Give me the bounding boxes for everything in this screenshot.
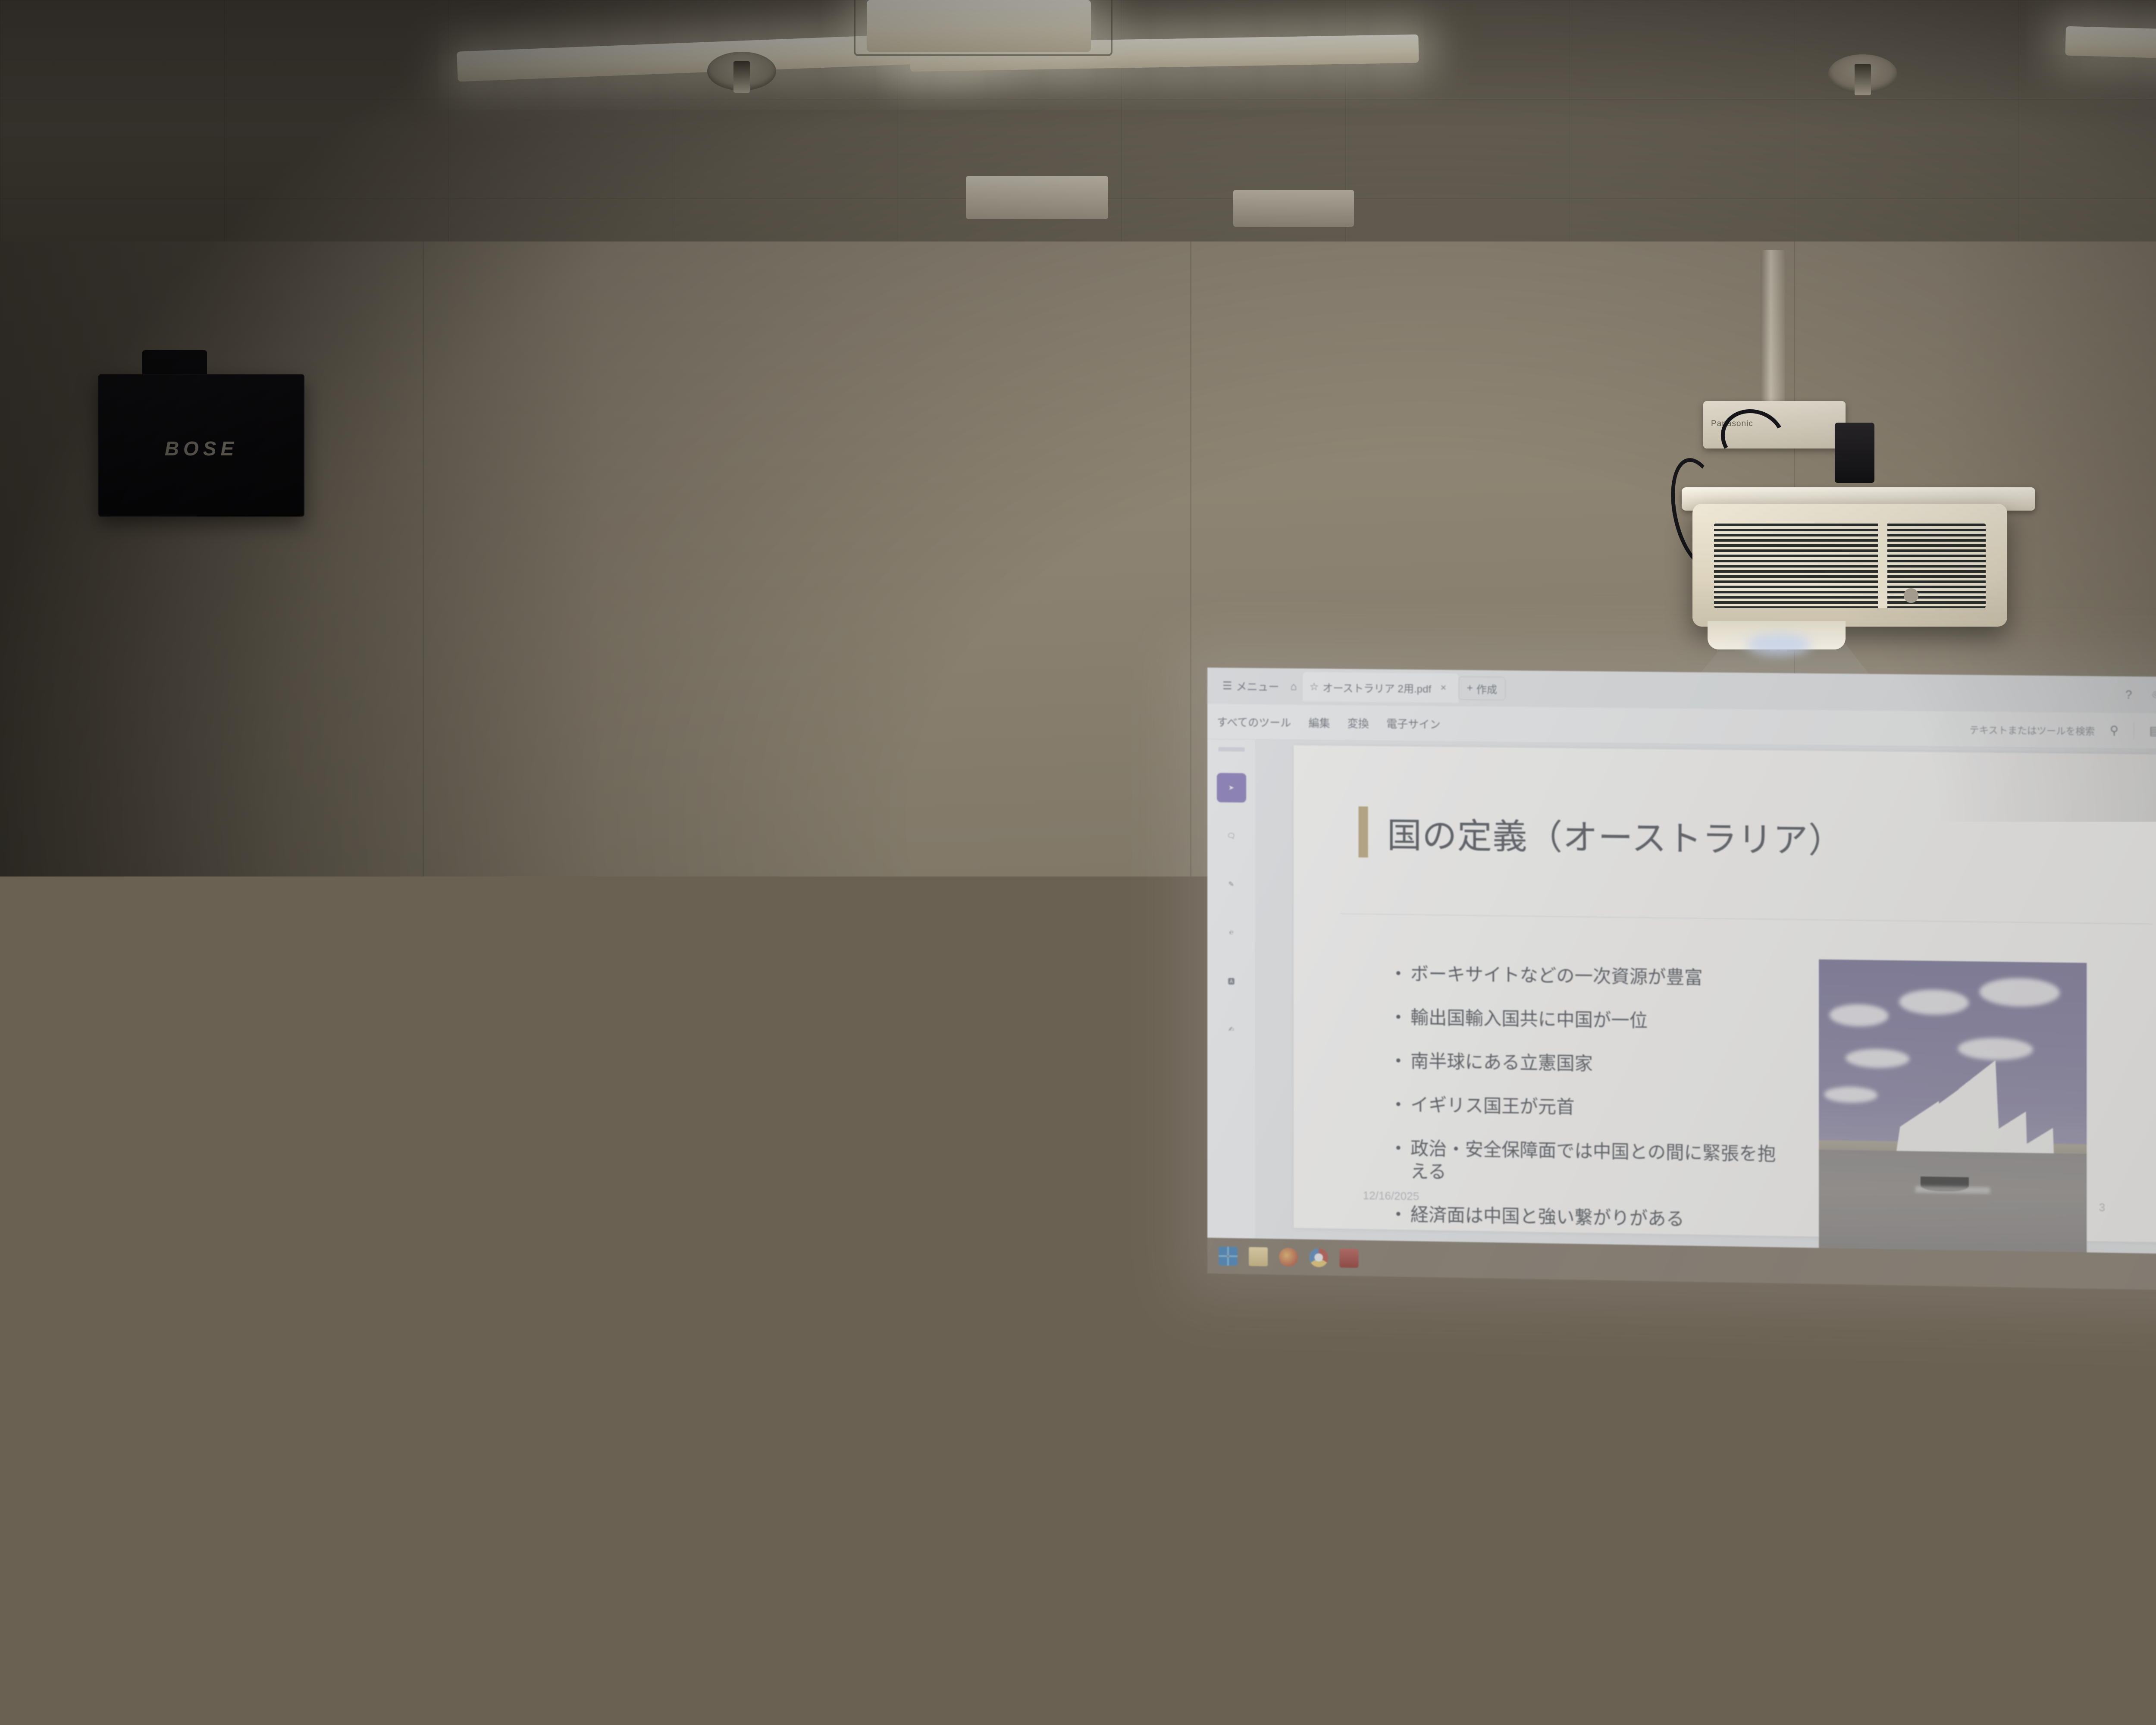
list-item: • 南半球にある立憲国家 — [1396, 1050, 1779, 1078]
text-box-tool-button[interactable]: 🅰 — [1216, 966, 1246, 996]
menu-item-all-tools[interactable]: すべてのツール — [1217, 714, 1300, 730]
sweatshirt-collar — [815, 1152, 906, 1176]
signature-tool-button[interactable]: ✍ — [1216, 1014, 1246, 1044]
title-accent-bar — [1359, 806, 1368, 857]
audience-member — [267, 1384, 414, 1660]
bose-logo: BOSE — [99, 437, 304, 460]
draw-lasso-tool-button[interactable]: ℮ — [1216, 918, 1246, 947]
bullet-text: 南半球にある立憲国家 — [1410, 1050, 1593, 1076]
ceiling-sensor-icon — [707, 52, 776, 91]
tab-close-icon[interactable]: × — [1435, 682, 1451, 694]
tablet-arm-desk — [914, 1647, 1078, 1672]
menu-item-convert[interactable]: 変換 — [1339, 715, 1378, 731]
audience-member-body — [1992, 1578, 2156, 1725]
comment-bubble-icon: 🗨 — [1227, 832, 1235, 841]
file-explorer-icon[interactable] — [1249, 1247, 1268, 1266]
bullet-text: 経済面は中国と強い繋がりがある — [1410, 1204, 1684, 1231]
microphone-head — [675, 1191, 697, 1214]
light-panel-frame — [854, 0, 1112, 56]
left-tool-rail: ➤ 🗨 ✎ ℮ 🅰 ✍ — [1207, 739, 1256, 1239]
projector-power-brick — [1835, 423, 1874, 483]
bell-icon[interactable]: ⌾ — [2148, 688, 2156, 702]
bullet-text: イギリス国王が元首 — [1410, 1094, 1575, 1119]
audience-member — [828, 1423, 962, 1665]
rail-handle — [1218, 747, 1244, 752]
ear — [895, 1078, 913, 1108]
pen-icon: ✎ — [1228, 880, 1234, 889]
lasso-icon: ℮ — [1229, 929, 1234, 937]
desk-leg — [966, 1671, 977, 1725]
list-item: • イギリス国王が元首 — [1396, 1093, 1779, 1122]
search-icon[interactable]: ⚲ — [2106, 724, 2123, 737]
help-circle-icon[interactable]: ? — [2121, 688, 2137, 702]
list-item: • 輸出国輸入国共に中国が一位 — [1396, 1006, 1779, 1035]
sweatshirt-text: BOSTON COLLEGE EST.1928 — [783, 1233, 943, 1345]
text-box-icon: 🅰 — [1228, 976, 1235, 986]
tablet-arm-desk — [1552, 1695, 1690, 1716]
desk-paper — [86, 1264, 172, 1275]
tab-title: オーストラリア 2用.pdf — [1322, 679, 1431, 696]
tablet-device — [6, 1214, 62, 1277]
save-icon[interactable]: ▤ — [2145, 724, 2156, 738]
menu-divider — [2134, 722, 2134, 739]
bullet-dot-icon: • — [1396, 1137, 1401, 1182]
hamburger-icon: ☰ — [1222, 679, 1232, 692]
create-label: 作成 — [1476, 681, 1497, 696]
bullet-text: ボーキサイトなどの一次資源が豊富 — [1410, 963, 1703, 989]
ceiling-sensor-icon — [1828, 54, 1897, 93]
sweatshirt-line1: BOSTON COLLEGE EST.1928 — [783, 1236, 943, 1342]
desk-leg — [285, 1659, 297, 1725]
select-tool-button[interactable]: ➤ — [1216, 773, 1246, 803]
bose-wall-speaker: BOSE — [98, 374, 304, 517]
hair-top — [320, 1095, 428, 1173]
create-button[interactable]: + 作成 — [1459, 677, 1506, 700]
comment-tool-button[interactable]: 🗨 — [1216, 821, 1246, 851]
list-item: • ボーキサイトなどの一次資源が豊富 — [1396, 963, 1779, 991]
boat-wake — [1915, 1186, 1990, 1194]
home-button[interactable]: ⌂ — [1285, 674, 1303, 699]
audience-member-body — [0, 1492, 181, 1725]
bullet-dot-icon: • — [1396, 1204, 1401, 1226]
bullet-text: 政治・安全保障面では中国との間に緊張を抱える — [1410, 1137, 1779, 1189]
menubar-right-group: テキストまたはツールを検索 ⚲ ▤ ⇪ ⎙ ◉ 🔗 ▣ — [1969, 720, 2156, 741]
signature-icon: ✍ — [1228, 1025, 1234, 1034]
adobe-acrobat-window: ☰ メニュー ⌂ ☆ オーストラリア 2用.pdf × + 作成 ? ⌾ — [1207, 668, 2156, 1257]
titlebar-right-group: ? ⌾ ログイン — ▢ ✕ — [2121, 686, 2156, 705]
tablet-arm-desk — [1548, 1596, 1690, 1618]
pdf-page: 国の定義（オーストラリア） • ボーキサイトなどの一次資源が豊富 • 輸出国輸入… — [1294, 745, 2156, 1243]
side-table-leg — [160, 1289, 172, 1440]
bullet-text: 輸出国輸入国共に中国が一位 — [1410, 1006, 1648, 1032]
document-tab[interactable]: ☆ オーストラリア 2用.pdf × — [1303, 672, 1459, 703]
ceiling-speaker-box — [1233, 190, 1354, 227]
projector-lens-glow — [1746, 634, 1811, 655]
list-item: • 経済面は中国と強い繋がりがある — [1396, 1204, 1779, 1233]
projection-screen-area: ☰ メニュー ⌂ ☆ オーストラリア 2用.pdf × + 作成 ? ⌾ — [1207, 668, 2156, 1293]
plus-icon: + — [1467, 682, 1473, 694]
highlight-pen-tool-button[interactable]: ✎ — [1216, 869, 1246, 899]
coat-collar — [362, 1242, 388, 1294]
projector-vent-gap — [1878, 524, 1887, 608]
audience-member — [444, 1436, 586, 1703]
sydney-opera-house-image — [1819, 960, 2087, 1256]
title-divider — [1340, 913, 2153, 924]
slide-bullet-list: • ボーキサイトなどの一次資源が豊富 • 輸出国輸入国共に中国が一位 • 南半球… — [1396, 963, 1779, 1254]
classroom-scene: BOSE Panasonic ☰ メニュー ⌂ ☆ — [0, 0, 2156, 1725]
menu-label: メニュー — [1236, 678, 1279, 694]
ceiling-speaker-box — [966, 176, 1108, 219]
bullet-dot-icon: • — [1396, 1050, 1401, 1073]
slide-footer-pageno: 3 — [2099, 1201, 2105, 1214]
hair-top — [600, 1023, 708, 1101]
audience-member — [630, 1371, 772, 1656]
list-item: • 政治・安全保障面では中国との間に緊張を抱える — [1396, 1137, 1779, 1189]
ceiling-projector — [1692, 504, 2007, 627]
harbour-water — [1819, 1150, 2087, 1256]
star-icon: ☆ — [1310, 681, 1319, 693]
projector-ir-sensor-icon — [1904, 588, 1918, 603]
head — [813, 1035, 907, 1151]
slide-footer-date: 12/16/2025 — [1363, 1189, 1420, 1203]
home-icon: ⌂ — [1291, 680, 1297, 693]
menu-item-esign[interactable]: 電子サイン — [1378, 715, 1449, 732]
pdf-canvas-area[interactable]: 国の定義（オーストラリア） • ボーキサイトなどの一次資源が豊富 • 輸出国輸入… — [1256, 740, 2156, 1256]
slide-title-row: 国の定義（オーストラリア） — [1359, 806, 1844, 863]
bullet-dot-icon: • — [1396, 963, 1401, 985]
search-input[interactable]: テキストまたはツールを検索 — [1969, 722, 2095, 737]
cursor-arrow-icon: ➤ — [1228, 784, 1234, 792]
acrobat-body: ➤ 🗨 ✎ ℮ 🅰 ✍ — [1207, 739, 2156, 1257]
bullet-dot-icon: • — [1396, 1006, 1401, 1029]
projector-mount-pole — [1761, 250, 1785, 414]
tablet-arm-desk — [224, 1634, 397, 1660]
chrome-icon[interactable] — [1309, 1248, 1328, 1267]
bullet-dot-icon: • — [1396, 1093, 1401, 1116]
slide-title: 国の定義（オーストラリア） — [1387, 807, 1844, 863]
hamburger-menu-button[interactable]: ☰ メニュー — [1217, 674, 1285, 699]
desk-leg — [1595, 1616, 1606, 1694]
projector-vent — [1714, 524, 1986, 608]
wall-seam — [1190, 241, 1191, 1725]
acrobat-icon[interactable] — [1339, 1248, 1358, 1268]
speaker-bracket — [142, 350, 207, 378]
firefox-icon[interactable] — [1279, 1247, 1298, 1267]
menu-item-edit[interactable]: 編集 — [1300, 715, 1338, 731]
start-button[interactable] — [1219, 1246, 1238, 1266]
